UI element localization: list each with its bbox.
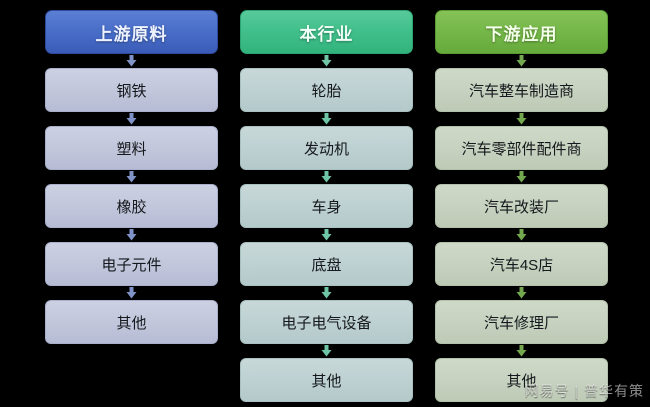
chain-node[interactable]: 其他 (45, 300, 218, 344)
chevron-down-icon (240, 228, 413, 242)
chain-node[interactable]: 钢铁 (45, 68, 218, 112)
chevron-down-icon (435, 228, 608, 242)
chain-node-label: 电子元件 (101, 254, 161, 275)
chevron-down-icon (45, 54, 218, 68)
chain-node[interactable]: 车身 (240, 184, 413, 228)
column-header-downstream[interactable]: 下游应用 (435, 10, 608, 54)
chevron-down-icon (240, 344, 413, 358)
chain-node[interactable]: 橡胶 (45, 184, 218, 228)
chevron-down-icon (240, 54, 413, 68)
chain-node-label: 其他 (116, 312, 146, 333)
column-header-upstream[interactable]: 上游原料 (45, 10, 218, 54)
chain-node-label: 发动机 (304, 138, 349, 159)
chevron-down-icon (240, 112, 413, 126)
column-header-label: 上游原料 (96, 20, 168, 45)
chain-node[interactable]: 发动机 (240, 126, 413, 170)
chain-node[interactable]: 轮胎 (240, 68, 413, 112)
column-header-label: 本行业 (300, 20, 354, 45)
chain-node-label: 汽车4S店 (490, 254, 553, 275)
chain-node-label: 橡胶 (116, 196, 146, 217)
chain-node[interactable]: 塑料 (45, 126, 218, 170)
chain-node-label: 轮胎 (311, 80, 341, 101)
chain-node-label: 汽车改装厂 (484, 196, 559, 217)
chain-column-industry: 本行业轮胎发动机车身底盘电子电气设备其他 (240, 0, 413, 402)
chain-node-label: 其他 (311, 370, 341, 391)
chain-node[interactable]: 电子电气设备 (240, 300, 413, 344)
chain-node[interactable]: 汽车改装厂 (435, 184, 608, 228)
chain-node[interactable]: 汽车零部件配件商 (435, 126, 608, 170)
chain-node[interactable]: 其他 (435, 358, 608, 402)
chevron-down-icon (240, 170, 413, 184)
chevron-down-icon (435, 112, 608, 126)
chevron-down-icon (435, 344, 608, 358)
chain-node-label: 车身 (311, 196, 341, 217)
chain-node[interactable]: 汽车4S店 (435, 242, 608, 286)
chain-node[interactable]: 电子元件 (45, 242, 218, 286)
chevron-down-icon (45, 112, 218, 126)
chain-node-label: 汽车整车制造商 (469, 80, 574, 101)
chain-node-label: 塑料 (116, 138, 146, 159)
chevron-down-icon (435, 286, 608, 300)
chevron-down-icon (240, 286, 413, 300)
chain-node-label: 电子电气设备 (281, 312, 371, 333)
chain-node[interactable]: 汽车整车制造商 (435, 68, 608, 112)
chevron-down-icon (45, 170, 218, 184)
chevron-down-icon (45, 228, 218, 242)
chevron-down-icon (435, 54, 608, 68)
column-header-industry[interactable]: 本行业 (240, 10, 413, 54)
chain-node-label: 汽车修理厂 (484, 312, 559, 333)
chain-node-label: 钢铁 (116, 80, 146, 101)
chain-node-label: 其他 (506, 370, 536, 391)
chain-node-label: 底盘 (311, 254, 341, 275)
industry-chain-diagram: 上游原料钢铁塑料橡胶电子元件其他本行业轮胎发动机车身底盘电子电气设备其他下游应用… (0, 0, 650, 407)
chain-node[interactable]: 底盘 (240, 242, 413, 286)
column-header-label: 下游应用 (486, 20, 558, 45)
chain-node-label: 汽车零部件配件商 (461, 138, 581, 159)
chain-node[interactable]: 汽车修理厂 (435, 300, 608, 344)
chevron-down-icon (435, 170, 608, 184)
chain-column-downstream: 下游应用汽车整车制造商汽车零部件配件商汽车改装厂汽车4S店汽车修理厂其他 (435, 0, 608, 402)
chain-column-upstream: 上游原料钢铁塑料橡胶电子元件其他 (45, 0, 218, 344)
chain-node[interactable]: 其他 (240, 358, 413, 402)
chevron-down-icon (45, 286, 218, 300)
